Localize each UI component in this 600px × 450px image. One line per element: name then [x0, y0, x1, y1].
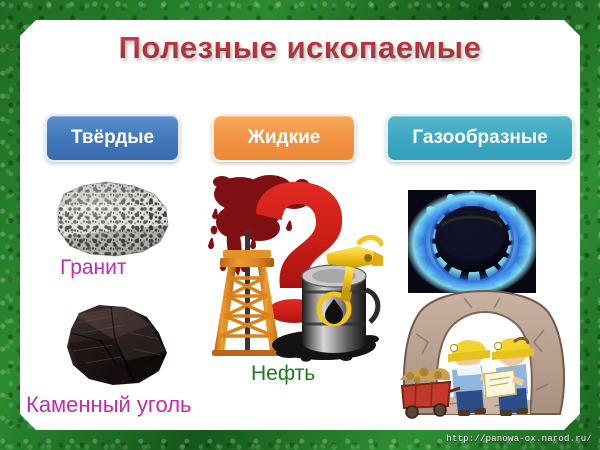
page-title: Полезные ископаемые — [0, 30, 600, 66]
category-pill-liquid[interactable]: Жидкие — [212, 114, 356, 162]
gas-burner-image — [408, 190, 536, 293]
slide-canvas: Полезные ископаемые Твёрдые Жидкие Газоо… — [0, 0, 600, 450]
coal-rock-image — [55, 303, 177, 387]
caption-coal: Каменный уголь — [26, 392, 192, 418]
oil-illustration — [198, 172, 383, 362]
category-pill-gas[interactable]: Газообразные — [386, 114, 574, 162]
category-pill-liquid-label: Жидкие — [248, 127, 321, 149]
oil-derrick-icon — [212, 230, 280, 356]
source-watermark: http://panowa-ox.narod.ru/ — [446, 434, 592, 444]
category-pill-solid-label: Твёрдые — [71, 127, 154, 149]
caption-oil: Нефть — [251, 362, 315, 386]
category-pill-gas-label: Газообразные — [412, 127, 547, 149]
category-pill-solid[interactable]: Твёрдые — [45, 114, 180, 162]
caption-granite: Гранит — [60, 256, 127, 280]
mine-scene-image — [398, 288, 570, 424]
granite-rock-image — [50, 180, 172, 258]
